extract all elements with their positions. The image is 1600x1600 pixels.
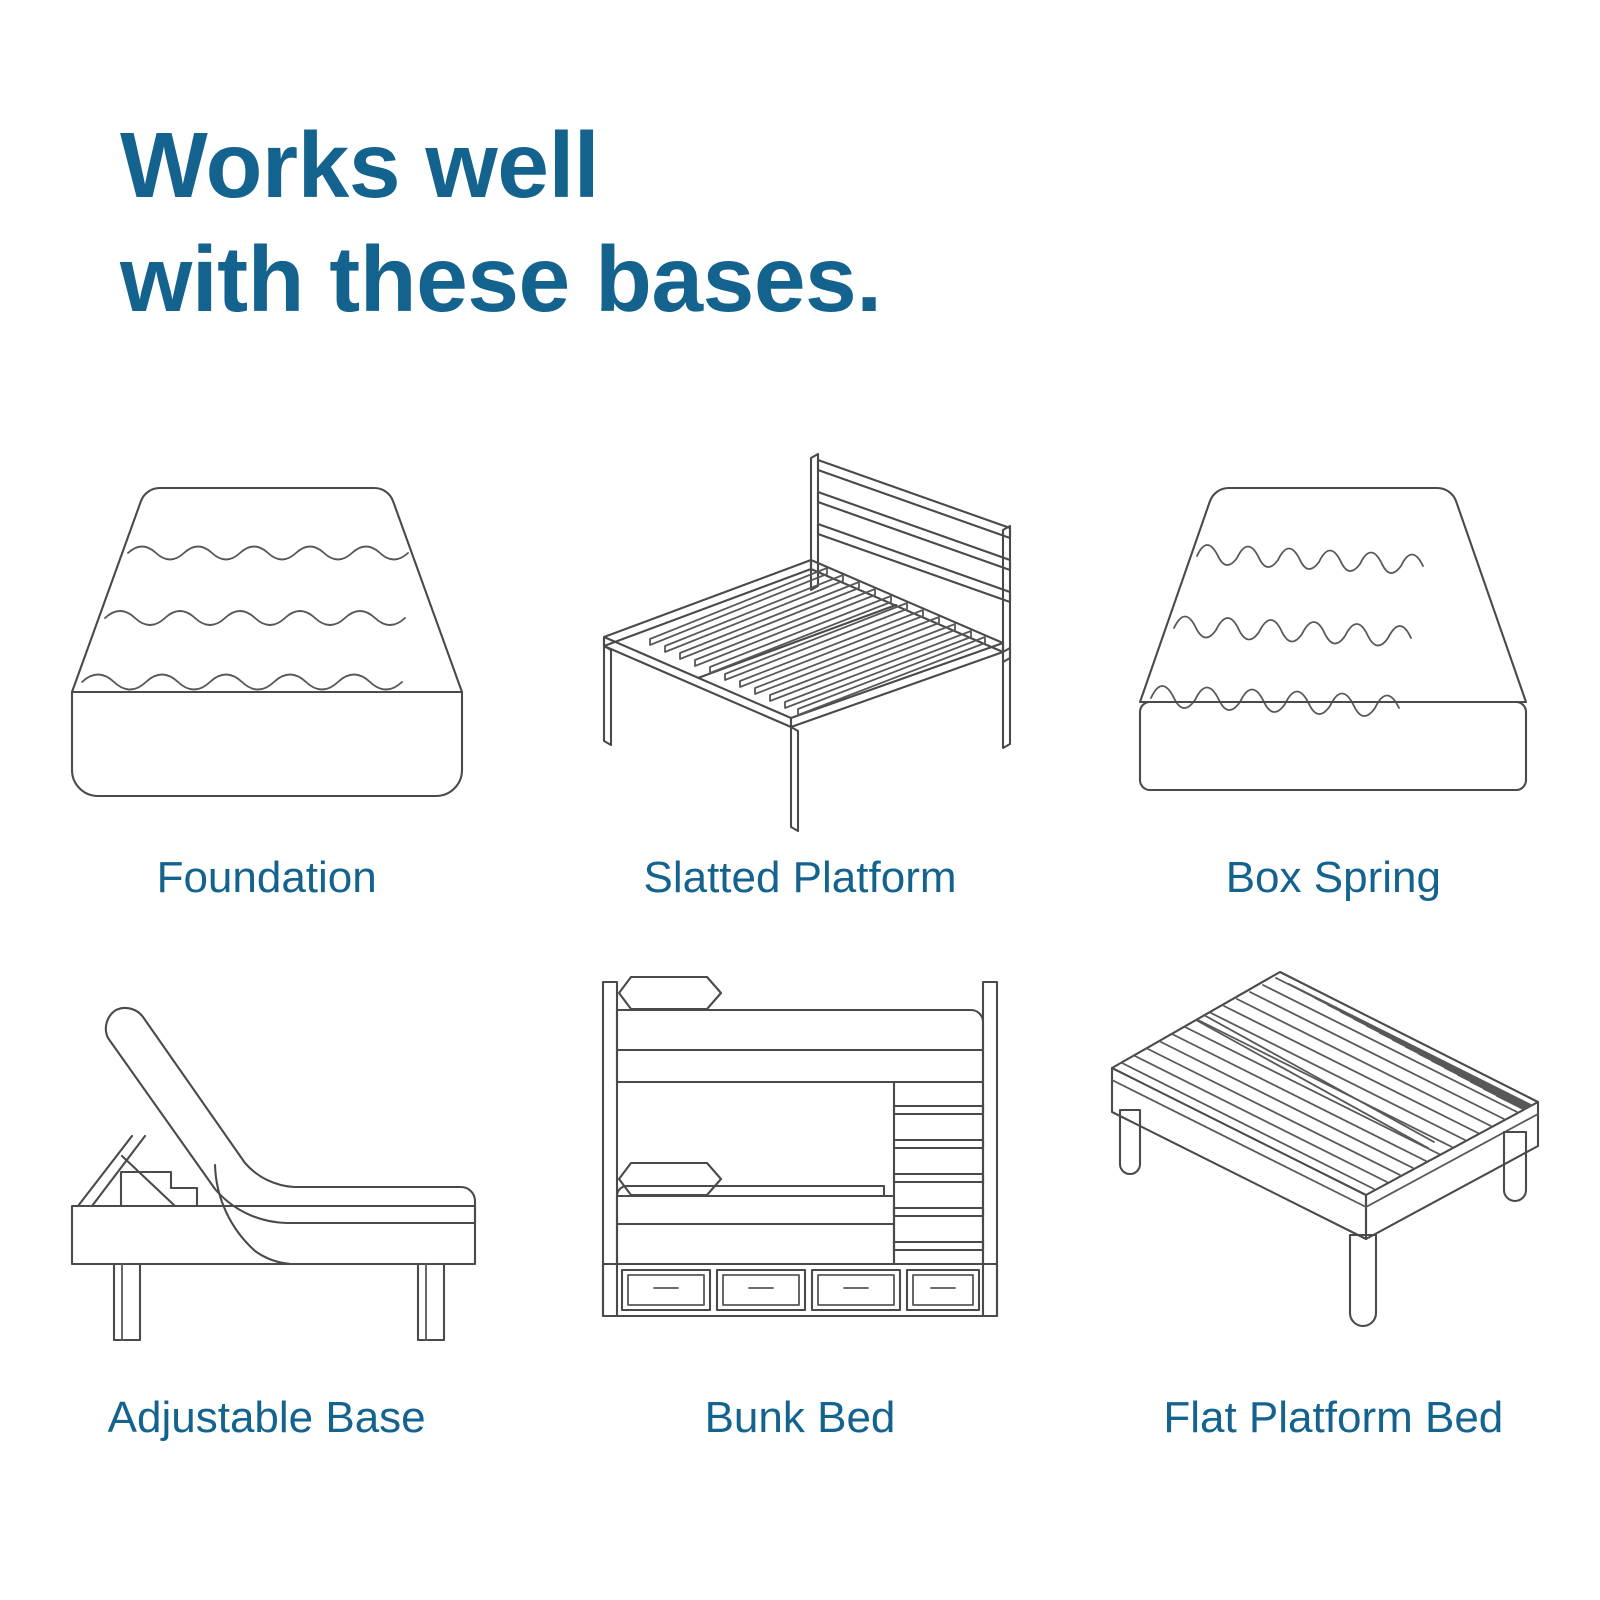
base-card-bunk-bed[interactable]: Bunk Bed — [533, 950, 1066, 1470]
base-card-foundation[interactable]: Foundation — [0, 430, 533, 950]
base-card-box-spring[interactable]: Box Spring — [1067, 430, 1600, 950]
base-label-foundation: Foundation — [157, 853, 377, 903]
flat-platform-bed-icon — [1098, 950, 1568, 1345]
box-spring-icon — [1098, 430, 1568, 825]
base-label-adjustable-base: Adjustable Base — [108, 1393, 426, 1443]
base-label-box-spring: Box Spring — [1226, 853, 1441, 903]
slatted-platform-bed-icon — [565, 430, 1035, 825]
foundation-mattress-icon — [32, 430, 502, 825]
base-card-flat-platform-bed[interactable]: Flat Platform Bed — [1067, 950, 1600, 1470]
base-label-bunk-bed: Bunk Bed — [705, 1393, 896, 1443]
base-label-slatted-platform: Slatted Platform — [643, 853, 956, 903]
bases-row-1: Foundation — [0, 430, 1600, 950]
adjustable-base-icon — [32, 950, 502, 1345]
base-card-adjustable-base[interactable]: Adjustable Base — [0, 950, 533, 1470]
bases-grid: Foundation — [0, 430, 1600, 1470]
bases-row-2: Adjustable Base — [0, 950, 1600, 1470]
page-title: Works well with these bases. — [120, 108, 882, 337]
base-card-slatted-platform[interactable]: Slatted Platform — [533, 430, 1066, 950]
infographic-page: Works well with these bases. — [0, 0, 1600, 1600]
base-label-flat-platform-bed: Flat Platform Bed — [1163, 1393, 1503, 1443]
bunk-bed-icon — [565, 950, 1035, 1345]
